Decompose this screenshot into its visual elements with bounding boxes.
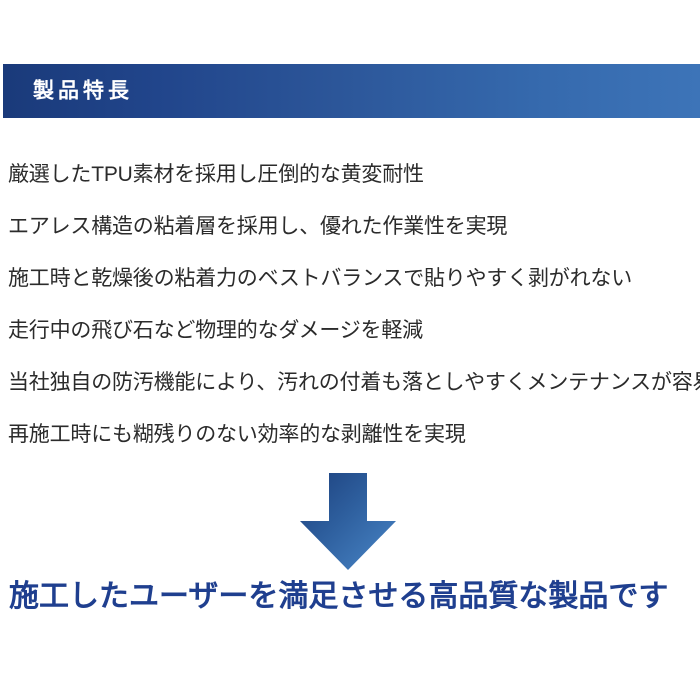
- conclusion-headline: 施工したユーザーを満足させる高品質な製品です: [9, 578, 699, 616]
- feature-item: エアレス構造の粘着層を採用し、優れた作業性を実現: [8, 200, 700, 252]
- product-features-panel: 製品特長 厳選したTPU素材を採用し圧倒的な黄変耐性 エアレス構造の粘着層を採用…: [0, 0, 700, 700]
- page-title: 製品特長: [33, 81, 133, 102]
- feature-list: 厳選したTPU素材を採用し圧倒的な黄変耐性 エアレス構造の粘着層を採用し、優れた…: [8, 148, 700, 460]
- feature-item: 走行中の飛び石など物理的なダメージを軽減: [8, 304, 700, 356]
- section-header-band: 製品特長: [3, 64, 700, 118]
- feature-item: 当社独自の防汚機能により、汚れの付着も落としやすくメンテナンスが容易: [8, 356, 700, 408]
- feature-item: 再施工時にも糊残りのない効率的な剥離性を実現: [8, 408, 700, 460]
- down-arrow-icon: [299, 472, 397, 571]
- feature-item: 厳選したTPU素材を採用し圧倒的な黄変耐性: [8, 148, 700, 200]
- feature-item: 施工時と乾燥後の粘着力のベストバランスで貼りやすく剥がれない: [8, 252, 700, 304]
